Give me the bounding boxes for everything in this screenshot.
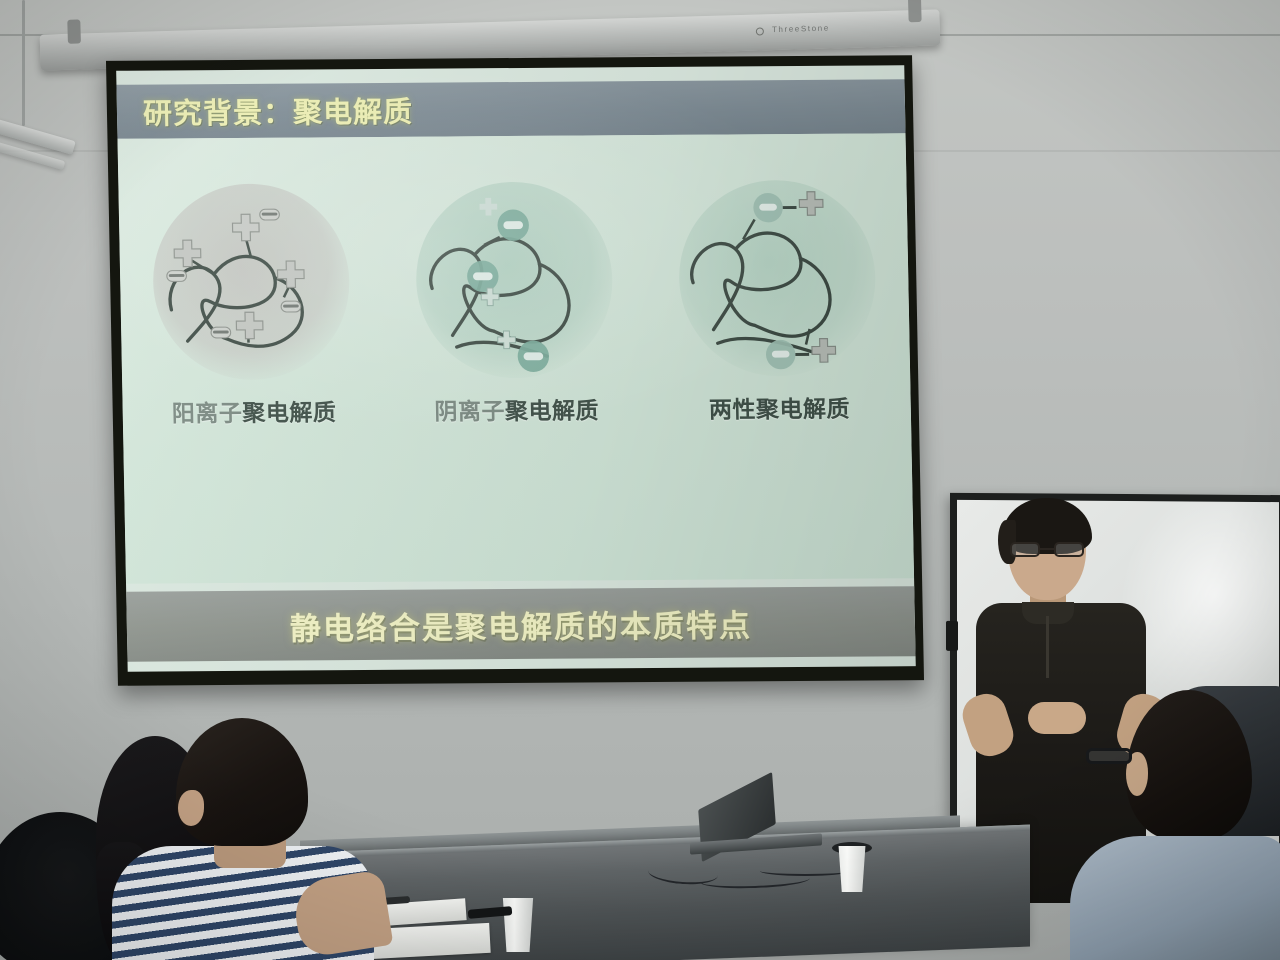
slide-footer-bar: 静电络合是聚电解质的本质特点 xyxy=(126,586,915,661)
figure-label-anionic: 阴离子聚电解质 xyxy=(434,391,599,426)
screen-bracket-left xyxy=(67,19,81,43)
cable-3 xyxy=(760,866,850,876)
amphoteric-illustration xyxy=(677,180,877,377)
presenter-glasses-icon xyxy=(1010,542,1084,557)
glasses-bridge xyxy=(1040,548,1054,550)
figure-label-anionic-suffix: 聚电解质 xyxy=(505,397,600,424)
audience-member-front-hair xyxy=(176,718,308,846)
anionic-chain-svg xyxy=(414,181,614,378)
slide-footer-text: 静电络合是聚电解质的本质特点 xyxy=(289,600,752,648)
figure-amphoteric: 两性聚电解质 xyxy=(659,179,896,425)
glasses-lens-right xyxy=(1054,542,1084,557)
figure-label-cationic-suffix: 聚电解质 xyxy=(242,399,337,426)
screen-bracket-right xyxy=(908,0,922,22)
laptop[interactable] xyxy=(690,790,840,856)
audience-member-right-shoulder xyxy=(1070,836,1280,960)
figure-cationic: 阳离子聚电解质 xyxy=(134,183,371,429)
audience-member-right-glasses-icon xyxy=(1086,748,1132,764)
amphoteric-chain-svg xyxy=(677,180,877,377)
charge-pairs xyxy=(742,192,836,370)
charge-markers xyxy=(174,214,306,343)
ceiling-cable xyxy=(22,0,25,126)
figure-label-cationic-prefix: 阳离子 xyxy=(172,400,243,426)
meeting-room-background: ThreeStone 研究背景：聚电解质 xyxy=(0,0,1280,960)
anionic-illustration xyxy=(414,181,614,378)
slide-body: 阳离子聚电解质 xyxy=(117,133,914,583)
cationic-illustration xyxy=(152,183,352,380)
whiteboard-marker-clip xyxy=(946,621,958,651)
glasses-lens-left xyxy=(1010,542,1040,557)
presenter-shirt-placket xyxy=(1046,616,1049,678)
figure-label-amphoteric-prefix: 两性 xyxy=(709,396,757,422)
brand-logo-icon xyxy=(756,27,764,35)
figure-label-anionic-prefix: 阴离子 xyxy=(434,398,505,424)
projection-screen: 研究背景：聚电解质 xyxy=(106,55,924,686)
figure-label-cationic: 阳离子聚电解质 xyxy=(171,393,336,428)
slide-title: 研究背景：聚电解质 xyxy=(143,89,414,133)
slide-title-bar: 研究背景：聚电解质 xyxy=(116,79,905,138)
cationic-chain-svg xyxy=(152,183,352,380)
screen-brand-label: ThreeStone xyxy=(772,24,830,35)
presentation-slide: 研究背景：聚电解质 xyxy=(116,65,916,671)
presenter-hands xyxy=(1028,702,1086,734)
figure-row: 阳离子聚电解质 xyxy=(118,179,911,428)
audience-member-front-ear xyxy=(178,790,204,826)
figure-anionic: 阴离子聚电解质 xyxy=(396,181,633,427)
figure-label-amphoteric-suffix: 聚电解质 xyxy=(756,396,851,423)
figure-label-amphoteric: 两性聚电解质 xyxy=(709,390,851,425)
